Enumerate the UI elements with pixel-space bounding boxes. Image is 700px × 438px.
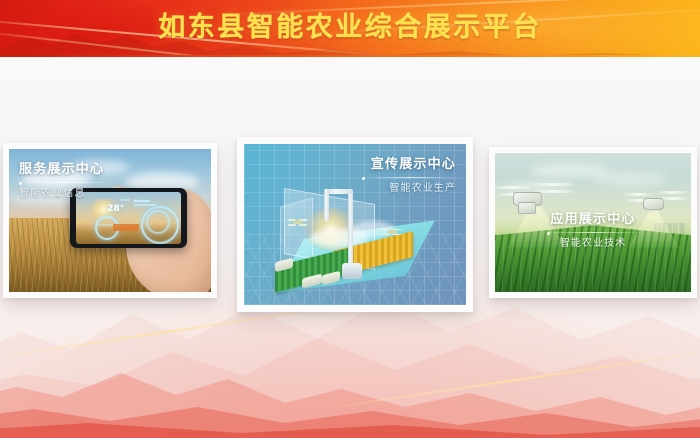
panel-promotion-subtitle: 智能农业生产 [364,182,456,196]
panel-service-image: 28° 服务展示中心 智能农业信息 [9,149,211,292]
irrigation-pole [348,189,353,266]
banner-bottom-rule [0,55,700,57]
hud-temperature: 28° [107,204,124,214]
cloud [593,172,667,185]
page-title: 如东县智能农业综合展示平台 [0,8,700,48]
panel-service[interactable]: 28° 服务展示中心 智能农业信息 [3,143,217,298]
panel-application-subtitle: 智能农业技术 [495,237,691,251]
panel-application-caption: 应用展示中心 智能农业技术 [495,211,691,251]
panel-service-title: 服务展示中心 [19,161,111,178]
panel-promotion[interactable]: 宣传展示中心 智能农业生产 [237,137,473,312]
panel-application-title: 应用展示中心 [495,211,691,228]
drone-icon [288,218,308,226]
panel-application-divider [547,232,639,233]
hud-temperature-value: 28 [107,204,120,214]
hud-bar [120,199,130,201]
panel-application[interactable]: 应用展示中心 智能农业技术 [489,147,697,298]
water-tank [342,263,362,279]
panel-service-divider [19,182,111,183]
panel-application-image: 应用展示中心 智能农业技术 [495,153,691,292]
hud-degree-symbol: ° [120,204,125,214]
hud-ring-right-inner [146,210,170,234]
irrigation-downpipe [324,189,329,221]
app-root: 如东县智能农业综合展示平台 [0,0,700,438]
hud-bar [134,204,156,206]
mountain-layer-near [0,323,700,438]
panel-service-subtitle: 智能农业信息 [19,187,111,201]
panel-promotion-title: 宣传展示中心 [364,156,456,173]
hud-bar [134,200,150,202]
panel-promotion-image: 宣传展示中心 智能农业生产 [244,144,466,305]
header-banner: 如东县智能农业综合展示平台 [0,0,700,57]
hud-chip [113,224,139,231]
drone-icon [382,228,402,236]
panel-promotion-caption: 宣传展示中心 智能农业生产 [364,156,456,196]
panel-service-caption: 服务展示中心 智能农业信息 [19,161,111,201]
panel-promotion-divider [364,177,456,178]
